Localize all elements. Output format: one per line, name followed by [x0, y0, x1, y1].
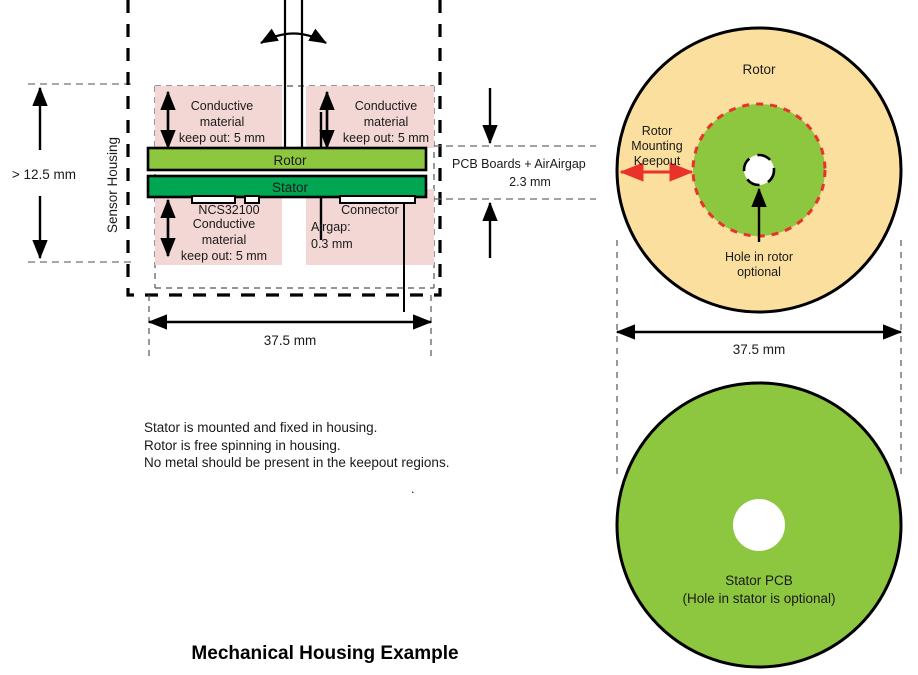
rotor-strip-label: Rotor: [273, 153, 307, 168]
pcb-stack-label-line2: 2.3 mm: [509, 175, 551, 189]
width-dimension-label: 37.5 mm: [264, 333, 317, 348]
keepout-top-left-line1: Conductive: [191, 99, 254, 113]
stator-disc-label-line2: (Hole in stator is optional): [682, 591, 835, 606]
connector-label: Connector: [341, 203, 399, 217]
keepout-bottom-left-line1: Conductive: [193, 217, 256, 231]
note-line-3: No metal should be present in the keepou…: [144, 455, 449, 470]
component-small: [245, 196, 259, 203]
component-connector: [340, 196, 415, 203]
component-ncs32100: [192, 196, 235, 203]
keepout-top-left-line2: material: [200, 115, 244, 129]
diagram-canvas: > 12.5 mm Sensor Housing Conductive mate…: [0, 0, 918, 675]
stator-hole: [733, 499, 785, 551]
page-title: Mechanical Housing Example: [191, 643, 458, 664]
airgap-label-line2: 0.3 mm: [311, 237, 353, 251]
note-line-2: Rotor is free spinning in housing.: [144, 438, 341, 453]
rotor-hole-label-line1: Hole in rotor: [725, 250, 793, 264]
airgap-label-line1: Airgap:: [311, 220, 351, 234]
note-line-4: .: [411, 482, 414, 496]
rotation-arc-arrow: [261, 34, 326, 44]
keepout-bottom-left-line3: keep out: 5 mm: [181, 249, 267, 263]
stator-disc-label-line1: Stator PCB: [725, 573, 793, 588]
pcb-stack-label-line1: PCB Boards + AirAirgap: [452, 157, 586, 171]
chip-label: NCS32100: [198, 203, 259, 217]
stator-strip-label: Stator: [272, 180, 309, 195]
mechanical-housing-diagram: > 12.5 mm Sensor Housing Conductive mate…: [0, 0, 918, 675]
keepout-top-right-line2: material: [364, 115, 408, 129]
keepout-top-right-line3: keep out: 5 mm: [343, 131, 429, 145]
top-view-width-label: 37.5 mm: [733, 342, 786, 357]
rotor-hole-label-line2: optional: [737, 265, 781, 279]
rotor-keepout-label-line1: Rotor: [642, 124, 673, 138]
height-dimension-label: > 12.5 mm: [12, 167, 76, 182]
rotor-hole: [744, 155, 774, 185]
sensor-housing-label: Sensor Housing: [105, 137, 120, 233]
keepout-top-right-line1: Conductive: [355, 99, 418, 113]
rotor-disc-label: Rotor: [742, 62, 776, 77]
keepout-bottom-left-line2: material: [202, 233, 246, 247]
note-line-1: Stator is mounted and fixed in housing.: [144, 420, 377, 435]
rotor-keepout-label-line2: Mounting: [631, 139, 682, 153]
keepout-top-left-line3: keep out: 5 mm: [179, 131, 265, 145]
rotor-keepout-label-line3: Keepout: [634, 154, 681, 168]
